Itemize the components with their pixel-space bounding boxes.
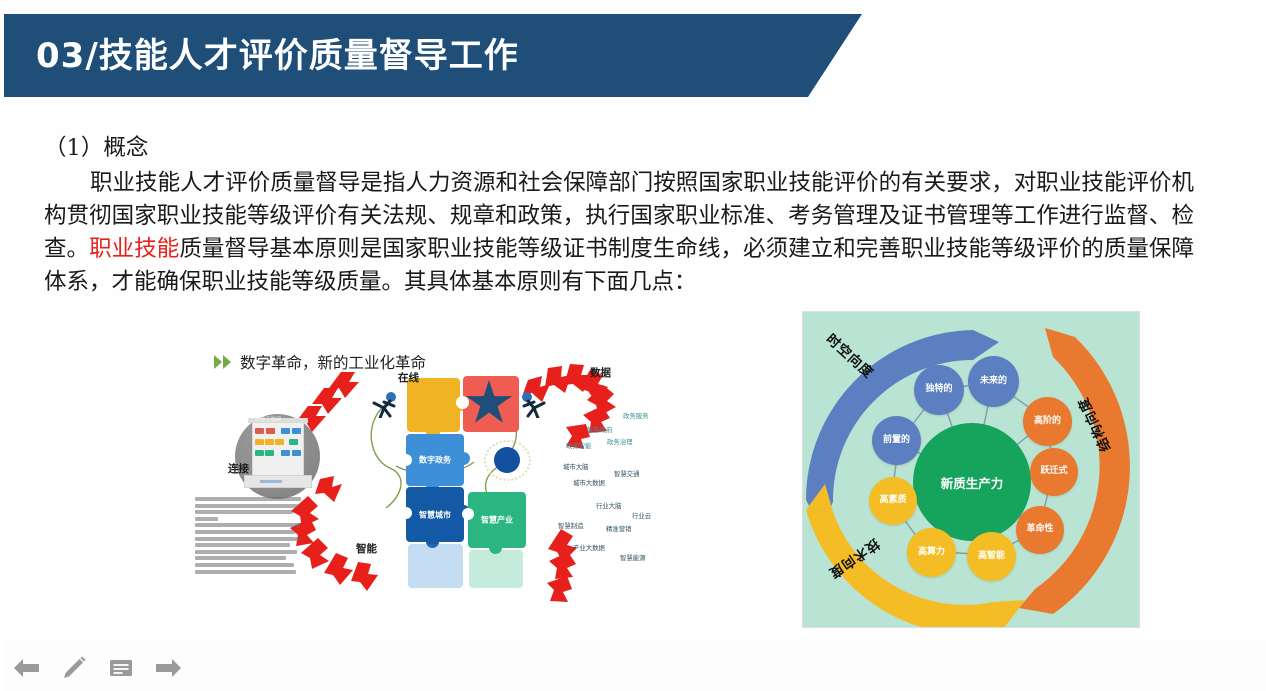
node-future: 未来的 [968,356,1019,407]
puzzle-label-green: 智慧产业 [468,515,526,526]
pencil-icon [62,656,86,680]
micro-label-8: 行业云 [632,511,651,520]
node-advanced: 高阶的 [1023,397,1072,446]
micro-label-10: 精准营销 [606,524,632,533]
node-high-intelligence: 高智能 [967,532,1016,581]
blue-dot [494,447,520,473]
slide-toolbar [0,645,1266,691]
micro-label-3: 政务智能 [566,441,592,450]
micro-label-1: 智慧政府 [587,425,613,434]
puzzle-label-light-blue: 数字政务 [406,455,464,466]
micro-label-2: 政务治理 [607,437,633,446]
right-arrow-icon [155,658,181,678]
node-forward: 前置的 [872,416,921,465]
micro-label-0: 政务服务 [623,411,649,420]
puzzle-label-dark-blue: 智慧城市 [406,509,464,520]
node-revolutionary: 革命性 [1016,506,1064,554]
figure-label-online: 在线 [398,370,419,385]
figure-left-heading: 数字革命，新的工业化革命 [214,351,426,373]
slide-canvas: 03/技能人才评价质量督导工作 （1）概念 职业技能人才评价质量督导是指人力资源… [0,0,1266,691]
bead-row-1 [255,428,301,434]
bead-row-3 [255,450,301,456]
micro-label-12: 智慧能源 [620,553,646,562]
micro-label-7: 行业大脑 [596,501,622,510]
double-chevron-icon [214,355,231,369]
body-text-block: （1）概念 职业技能人才评价质量督导是指人力资源和社会保障部门按照国家职业技能评… [44,132,1194,299]
node-high-quality: 高素质 [869,477,917,525]
person-figure-left [372,388,402,418]
micro-label-5: 智慧交通 [614,469,640,478]
puzzle-piece-light-blue: 数字政务 [406,434,464,486]
highlighted-term: 职业技能 [89,236,179,262]
person-figure-right [516,388,546,418]
bead-row-2 [255,439,301,445]
left-arrow-icon [14,658,40,678]
micro-label-11: 产业大数据 [573,543,605,552]
micro-label-6: 城市大数据 [573,478,605,487]
body-paragraph: 职业技能人才评价质量督导是指人力资源和社会保障部门按照国家职业技能评价的有关要求… [44,167,1194,299]
notes-icon [109,658,133,678]
figure-new-productive-forces: 新质生产力 独特的 未来的 前置的 高阶的 跃迁式 革命性 高素质 高算力 高智… [802,311,1140,628]
puzzle-reflection-left [408,544,463,588]
figure-label-connect: 连接 [228,461,249,476]
node-leap: 跃迁式 [1030,448,1078,496]
section-subheading: （1）概念 [44,132,1194,165]
micro-label-4: 城市大脑 [563,462,589,471]
figure-digital-revolution: 数字革命，新的工业化革命 [176,344,676,636]
left-gutter [0,0,4,691]
puzzle-piece-dark-blue: 智慧城市 [406,487,464,542]
node-high-compute: 高算力 [907,528,956,577]
micro-label-9: 智慧制造 [558,521,584,530]
device-base-accent [260,480,282,483]
paragraph-part-2: 质量督导基本原则是国家职业技能等级证书制度生命线，必须建立和完善职业技能等级评价… [44,236,1194,295]
page-title: 03/技能人才评价质量督导工作 [36,28,519,77]
next-slide-button[interactable] [154,655,182,681]
puzzle-piece-green: 智慧产业 [468,492,526,548]
device-caption: 消费互联网 [255,416,282,423]
node-unique: 独特的 [914,365,964,415]
core-node: 新质生产力 [913,423,1031,541]
puzzle-piece-yellow [407,378,460,432]
previous-slide-button[interactable] [13,655,41,681]
puzzle-reflection-right [469,550,523,588]
annotate-button[interactable] [60,655,88,681]
figure-label-data: 数据 [590,365,611,380]
notes-button[interactable] [107,655,135,681]
figure-caption-microtext [195,497,301,576]
figure-label-intelligent: 智能 [356,541,377,556]
